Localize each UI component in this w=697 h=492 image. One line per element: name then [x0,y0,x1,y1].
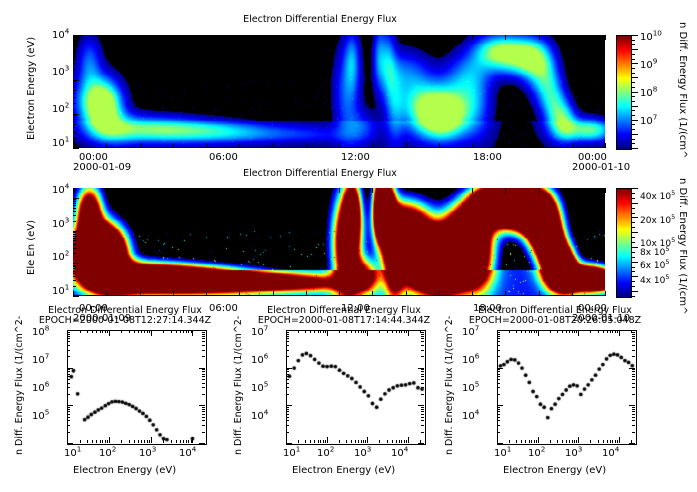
axis-tick [572,143,573,148]
axis-tick [420,330,421,333]
colorbar-tick [632,82,635,83]
axis-tick [202,383,205,384]
axis-tick [67,407,70,408]
axis-tick [73,208,76,209]
axis-tick [632,411,635,412]
axis-tick [632,425,635,426]
sp3-subtitle: EPOCH=2000-01-08T20:26:05.048Z [450,315,660,326]
sp1-xtick-3: 103 [139,448,156,459]
axis-tick [497,417,500,418]
axis-tick [367,330,368,336]
colorbar-tick [632,203,638,204]
axis-tick [379,440,380,443]
axis-tick [418,330,424,331]
axis-tick [325,330,326,333]
axis-tick [539,35,540,40]
sp1-ytick-5: 105 [32,411,49,422]
axis-tick [73,238,76,239]
axis-tick [305,440,306,443]
axis-tick [365,330,366,333]
colorbar-tick [632,222,635,223]
axis-tick [73,49,76,50]
axis-tick [73,56,76,57]
axis-tick [202,379,205,380]
axis-tick [632,334,635,335]
axis-tick [358,330,359,333]
axis-tick [180,330,181,333]
axis-tick [421,332,424,333]
axis-tick [603,440,604,443]
axis-tick [199,330,205,331]
axis-tick [346,330,347,333]
axis-tick [286,356,289,357]
axis-tick [566,440,567,443]
axis-tick [318,330,319,333]
sp3-ytick-7: 107 [462,327,479,338]
axis-tick [327,437,328,443]
axis-tick [173,291,174,296]
axis-tick [286,409,289,410]
spec2-title: Electron Differential Energy Flux [0,168,640,179]
axis-tick [144,440,145,443]
colorbar-tick [632,257,635,258]
axis-tick [67,374,70,375]
axis-tick [418,368,424,369]
axis-tick [202,374,205,375]
axis-tick [286,369,289,370]
spec1-ytick-1: 101 [52,138,69,149]
axis-tick [615,440,616,443]
axis-tick [163,440,164,443]
axis-tick [105,440,106,443]
axis-tick [497,379,500,380]
axis-tick [67,330,68,336]
spec2-ytick-2: 102 [52,252,69,263]
axis-tick [529,330,530,333]
axis-tick [176,440,177,443]
axis-tick [372,291,373,296]
axis-tick [80,440,81,443]
colorbar-tick [632,120,638,121]
axis-tick [363,330,364,333]
axis-tick [497,356,500,357]
axis-tick [87,330,88,333]
axis-tick [339,188,340,193]
axis-tick [134,330,135,333]
axis-tick [67,387,70,388]
colorbar-tick [632,63,638,64]
axis-tick [73,51,76,52]
spectrum-2-plot[interactable] [286,330,426,445]
axis-tick [67,437,68,443]
axis-tick [67,376,70,377]
axis-tick [73,265,76,266]
axis-tick [421,371,424,372]
axis-tick [632,374,635,375]
axis-tick [87,440,88,443]
axis-tick [572,330,573,333]
axis-tick [202,420,205,421]
axis-tick [421,387,424,388]
axis-tick [421,376,424,377]
axis-tick [392,330,393,333]
axis-tick [421,334,424,335]
axis-tick [387,330,388,333]
axis-tick [306,35,307,40]
axis-tick [73,103,76,104]
axis-tick [73,236,76,237]
spec2-frame [73,188,605,296]
axis-tick [372,188,373,193]
colorbar-tick [632,262,638,263]
colorbar-tick [632,286,635,287]
axis-tick [531,330,532,333]
axis-tick [73,198,79,199]
axis-tick [632,383,635,384]
axis-tick [572,291,573,296]
axis-tick [497,407,500,408]
axis-tick [617,330,618,333]
axis-tick [67,443,73,444]
axis-tick [202,341,205,342]
axis-tick [497,425,500,426]
axis-tick [73,114,79,115]
axis-tick [73,81,76,82]
axis-tick [73,45,79,46]
axis-tick [536,440,537,443]
sp1-xtick-2: 102 [99,448,116,459]
cb2-tick-4: 4x 105 [640,276,670,286]
axis-tick [607,330,608,333]
axis-tick [525,440,526,443]
axis-tick [418,405,424,406]
sp1-ylabel: n Diff. Energy Flux (1/(cm^2- [14,316,25,455]
axis-tick [629,405,635,406]
axis-tick [351,440,352,443]
axis-tick [632,376,635,377]
sp2-xlabel: Electron Energy (eV) [292,465,395,476]
axis-tick [605,143,606,148]
colorbar-tick [632,124,635,125]
axis-tick [286,371,289,372]
axis-tick [497,387,500,388]
axis-tick [73,296,79,297]
axis-tick [73,83,76,84]
colorbar-tick [632,106,638,107]
axis-tick [550,330,551,333]
axis-tick [73,90,76,91]
sp3-ylabel: n Diff. Energy Flux (1/(cm^2- [444,316,455,455]
axis-tick [505,143,506,148]
axis-tick [497,409,500,410]
axis-tick [106,35,107,40]
axis-tick [497,420,500,421]
axis-tick [538,437,539,443]
axis-tick [173,35,174,40]
spec2-colorbar[interactable] [616,188,632,298]
colorbar-tick [632,129,635,130]
sp2-ytick-7: 107 [251,327,268,338]
axis-tick [572,35,573,40]
axis-tick [188,440,189,443]
axis-tick [406,188,407,193]
axis-tick [67,368,73,369]
cb1-tick-8: 108 [640,88,657,99]
axis-tick [497,336,500,337]
axis-tick [73,232,76,233]
colorbar-tick [632,247,638,248]
colorbar-tick [632,92,638,93]
colorbar-tick [632,54,635,55]
axis-tick [516,440,517,443]
axis-tick [439,35,440,40]
axis-tick [612,330,613,333]
axis-tick [121,440,122,443]
axis-tick [615,330,616,333]
axis-tick [105,330,106,333]
sp3-ytick-5: 105 [462,383,479,394]
axis-tick [67,345,70,346]
axis-tick [73,273,76,274]
axis-tick [202,350,205,351]
axis-tick [408,330,409,336]
sp1-subtitle: EPOCH=2000-01-08T12:27:14.344Z [20,315,230,326]
axis-tick [67,383,70,384]
spec1-xtick-3: 12:00 [341,152,370,163]
axis-tick [404,440,405,443]
axis-tick [536,330,537,333]
axis-tick [100,330,101,333]
cb2-tick-8: 8x 105 [640,248,670,258]
axis-tick [183,440,184,443]
axis-tick [73,121,76,122]
axis-tick [149,440,150,443]
axis-tick [569,440,570,443]
axis-tick [202,376,205,377]
colorbar-tick [632,87,635,88]
axis-tick [408,437,409,443]
axis-tick [188,330,189,333]
axis-tick [421,356,424,357]
axis-tick [73,59,76,60]
axis-tick [176,330,177,333]
axis-tick [186,330,187,333]
axis-tick [286,376,289,377]
axis-tick [619,330,620,336]
axis-tick [202,411,205,412]
axis-tick [67,338,70,339]
axis-tick [497,369,500,370]
axis-tick [202,345,205,346]
axis-tick [421,432,424,433]
axis-tick [632,356,635,357]
colorbar-tick [632,296,635,297]
axis-tick [73,80,79,81]
axis-tick [202,407,205,408]
axis-tick [421,409,424,410]
axis-tick [632,394,635,395]
axis-tick [578,330,579,336]
cb1-tick-7: 107 [640,116,657,127]
axis-tick [73,119,76,120]
axis-tick [286,350,289,351]
sp3-xtick-1: 101 [494,448,511,459]
axis-tick [206,188,207,193]
axis-tick [529,440,530,443]
cb2-tick-20: 20x 105 [640,216,675,226]
axis-tick [339,291,340,296]
axis-tick [73,266,76,267]
axis-tick [572,188,573,193]
axis-tick [351,330,352,333]
colorbar-tick [632,242,635,243]
colorbar-tick [632,232,638,233]
axis-tick [192,330,193,336]
axis-tick [144,330,145,333]
axis-tick [286,374,289,375]
colorbar-tick [632,198,635,199]
axis-tick [92,440,93,443]
axis-tick [286,405,292,406]
axis-tick [421,394,424,395]
axis-tick [202,387,205,388]
sp1-xtick-4: 104 [179,448,196,459]
axis-tick [286,443,292,444]
axis-tick [379,330,380,333]
axis-tick [202,409,205,410]
axis-tick [73,148,79,149]
axis-tick [73,138,76,139]
axis-tick [418,443,424,444]
axis-tick [202,369,205,370]
axis-tick [102,440,103,443]
spec1-xtick-4: 18:00 [473,152,502,163]
colorbar-tick [632,213,635,214]
axis-tick [632,387,635,388]
axis-tick [202,432,205,433]
spec1-colorbar[interactable] [616,35,632,150]
spec2-ylabel: Ele En (eV) [26,220,37,275]
axis-tick [325,440,326,443]
axis-tick [339,440,340,443]
colorbar-tick [632,68,635,69]
spectrum-3-plot[interactable] [497,330,637,445]
axis-tick [607,440,608,443]
colorbar-tick [632,143,635,144]
axis-tick [286,411,289,412]
sp1-ytick-6: 106 [32,383,49,394]
axis-tick [505,35,506,40]
axis-tick [516,330,517,333]
colorbar-tick [632,110,635,111]
axis-tick [401,440,402,443]
axis-tick [372,143,373,148]
spec1-cbar-label: n Diff. Energy Flux (1/(cm^ [677,22,688,159]
axis-tick [67,414,70,415]
axis-tick [73,244,76,245]
colorbar-tick [632,208,635,209]
axis-tick [106,143,107,148]
axis-tick [138,440,139,443]
axis-tick [102,330,103,333]
axis-tick [610,330,611,333]
sp2-ytick-5: 105 [251,383,268,394]
cb2-tick-6: 6x 105 [640,261,670,271]
axis-tick [421,345,424,346]
axis-tick [202,334,205,335]
axis-tick [140,188,141,193]
sp3-xtick-2: 102 [528,448,545,459]
colorbar-tick [632,193,635,194]
axis-tick [605,188,606,193]
axis-tick [497,394,500,395]
sp2-xtick-1: 101 [283,448,300,459]
axis-tick [310,440,311,443]
axis-tick [629,443,635,444]
sp3-ytick-4: 104 [462,411,479,422]
axis-tick [421,414,424,415]
axis-tick [67,417,70,418]
spec1-title: Electron Differential Energy Flux [0,14,640,25]
axis-tick [273,291,274,296]
axis-tick [73,69,76,70]
axis-tick [140,143,141,148]
axis-tick [632,417,635,418]
sp2-ylabel: n Diff. Energy Flux (1/(cm^2- [233,316,244,455]
axis-tick [355,330,356,333]
axis-tick [439,291,440,296]
axis-tick [387,440,388,443]
axis-tick [472,143,473,148]
colorbar-tick [632,227,635,228]
axis-tick [421,336,424,337]
axis-tick [578,437,579,443]
colorbar-tick [632,267,635,268]
axis-tick [406,330,407,333]
axis-tick [574,440,575,443]
axis-tick [67,369,70,370]
axis-tick [367,437,368,443]
axis-tick [497,383,500,384]
axis-tick [73,201,76,202]
spectrum-1-plot[interactable] [67,330,207,445]
colorbar-tick [632,40,635,41]
colorbar-tick [632,134,638,135]
axis-tick [576,440,577,443]
axis-tick [631,330,632,333]
axis-tick [206,143,207,148]
axis-tick [521,440,522,443]
axis-tick [497,411,500,412]
axis-tick [109,330,110,336]
axis-tick [305,330,306,333]
axis-tick [67,356,70,357]
axis-tick [298,440,299,443]
axis-tick [629,330,635,331]
axis-tick [531,440,532,443]
colorbar-tick [632,96,635,97]
axis-tick [273,143,274,148]
axis-tick [550,440,551,443]
axis-tick [73,97,76,98]
axis-tick [617,440,618,443]
axis-tick [327,330,328,336]
axis-tick [339,143,340,148]
axis-tick [73,263,79,264]
axis-tick [439,188,440,193]
axis-tick [199,405,205,406]
axis-tick [569,330,570,333]
